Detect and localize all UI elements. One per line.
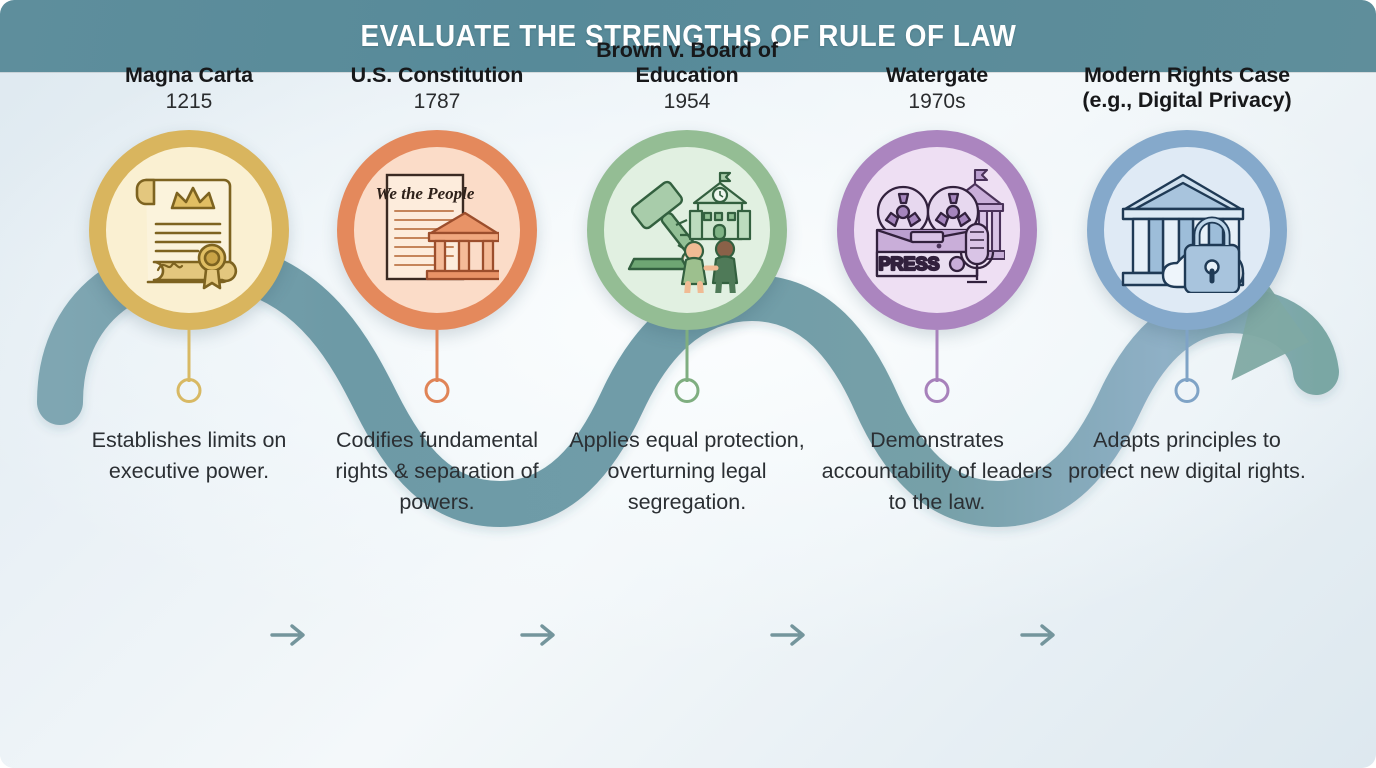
step-circle-wrap[interactable] (1087, 130, 1287, 330)
step-stem (1186, 330, 1189, 382)
step-stem-dot (177, 378, 202, 403)
step-stem (686, 330, 689, 382)
step-title: U.S. Constitution (312, 63, 562, 87)
press-recorder-microphone-capitol-icon: PRESS (837, 130, 1037, 330)
step-stem-dot (1175, 378, 1200, 403)
step-heading: Modern Rights Case (e.g., Digital Privac… (1062, 63, 1312, 114)
step-stem (188, 330, 191, 382)
step-caption: Establishes limits on executive power. (64, 425, 314, 487)
step-title: Modern Rights Case (e.g., Digital Privac… (1062, 63, 1312, 112)
step-caption: Demonstrates accountability of leaders t… (812, 425, 1062, 519)
scroll-crown-seal-icon (89, 130, 289, 330)
step-heading: Watergate 1970s (812, 63, 1062, 114)
step-caption: Codifies fundamental rights & separation… (312, 425, 562, 519)
step-stem (936, 330, 939, 382)
infographic-canvas: EVALUATE THE STRENGTHS OF RULE OF LAW (0, 0, 1376, 768)
arrow-right-icon (1018, 620, 1062, 650)
step-us-constitution[interactable]: U.S. Constitution 1787 We the People (312, 130, 562, 330)
step-stem-dot (925, 378, 950, 403)
step-circle-wrap[interactable]: We the People (337, 130, 537, 330)
step-stem (436, 330, 439, 382)
courthouse-cloud-padlock-icon (1087, 130, 1287, 330)
step-heading: U.S. Constitution 1787 (312, 63, 562, 114)
gavel-school-children-icon (587, 130, 787, 330)
step-brown-v-board[interactable]: Brown v. Board of Education 1954 (562, 130, 812, 330)
step-stem-dot (425, 378, 450, 403)
arrow-right-icon (268, 620, 312, 650)
arrow-right-icon (518, 620, 562, 650)
recorder-label: PRESS (878, 254, 939, 274)
step-circle-wrap[interactable] (587, 130, 787, 330)
step-circle-wrap[interactable]: PRESS (837, 130, 1037, 330)
step-year: 1787 (312, 89, 562, 114)
step-heading: Magna Carta 1215 (64, 63, 314, 114)
step-caption: Applies equal protection, overturning le… (562, 425, 812, 519)
step-title: Magna Carta (64, 63, 314, 87)
step-modern-rights-case[interactable]: Modern Rights Case (e.g., Digital Privac… (1062, 130, 1312, 330)
step-watergate[interactable]: Watergate 1970s (812, 130, 1062, 330)
constitution-document-capitol-icon: We the People (337, 130, 537, 330)
document-heading: We the People (376, 184, 475, 203)
step-magna-carta[interactable]: Magna Carta 1215 (64, 130, 314, 330)
step-year: 1954 (562, 89, 812, 114)
step-title: Brown v. Board of Education (562, 38, 812, 87)
step-stem-dot (675, 378, 700, 403)
step-year: 1215 (64, 89, 314, 114)
step-year: 1970s (812, 89, 1062, 114)
arrow-right-icon (768, 620, 812, 650)
step-caption: Adapts principles to protect new digital… (1062, 425, 1312, 487)
step-heading: Brown v. Board of Education 1954 (562, 38, 812, 114)
step-circle-wrap[interactable] (89, 130, 289, 330)
step-title: Watergate (812, 63, 1062, 87)
